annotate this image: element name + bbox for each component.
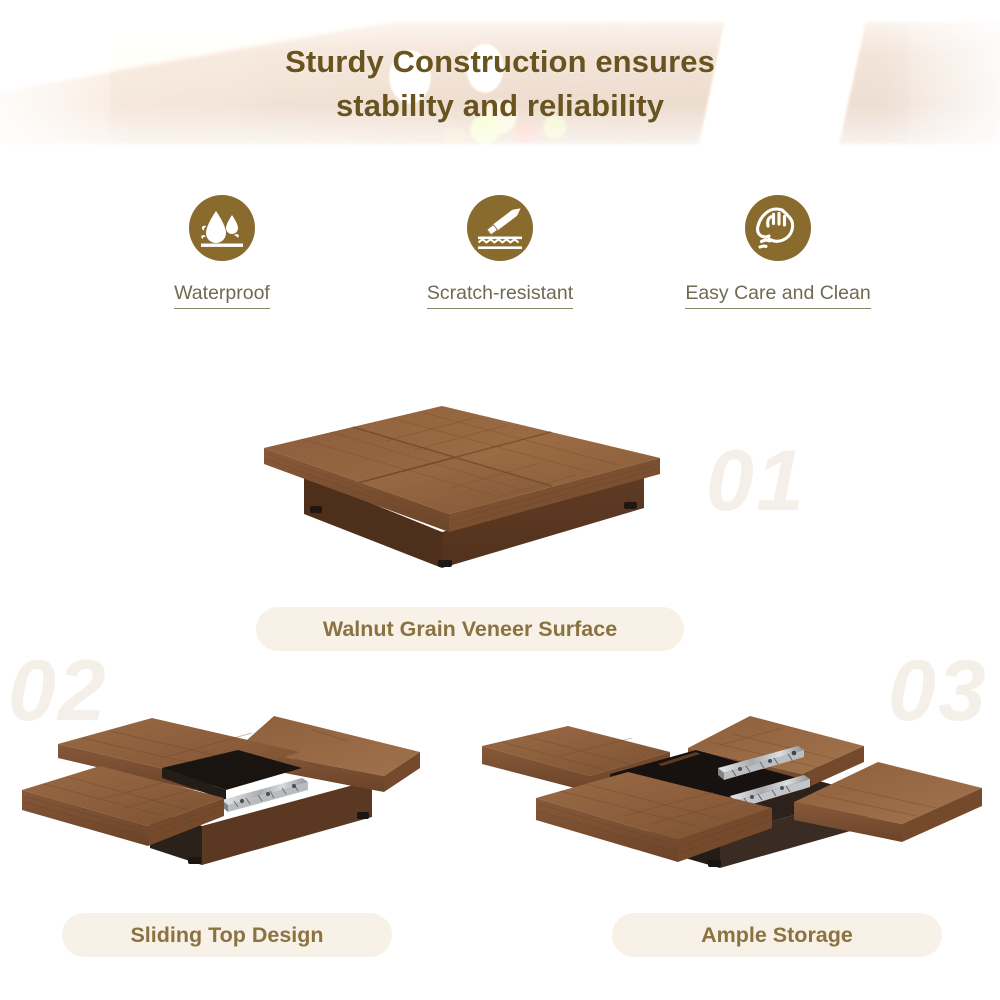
badge-label-03: Ample Storage [701,923,853,948]
section-number-01: 01 [706,432,806,531]
feature-item-waterproof: Waterproof [83,195,361,309]
badge-ample-storage: Ample Storage [612,913,942,957]
hero-title-line-2: stability and reliability [336,85,664,127]
feature-row: Waterproof Scratch-resistant [0,195,1000,335]
badge-walnut-grain-veneer-surface: Walnut Grain Veneer Surface [256,607,684,651]
hero-title-block: Sturdy Construction ensures stability an… [0,0,1000,168]
feature-label-waterproof: Waterproof [174,282,270,309]
easy-care-hand-wipe-icon [745,195,811,261]
hero-title-line-1: Sturdy Construction ensures [285,41,715,83]
scratch-resistant-blade-icon [467,195,533,261]
product-image-ample-storage [482,690,982,875]
product-image-closed-table [246,402,676,587]
waterproof-droplet-icon [189,195,255,261]
hero-header: Sturdy Construction ensures stability an… [0,0,1000,168]
badge-sliding-top-design: Sliding Top Design [62,913,392,957]
feature-item-scratch-resistant: Scratch-resistant [361,195,639,309]
badge-label-02: Sliding Top Design [130,923,323,948]
feature-label-easy-care: Easy Care and Clean [685,282,870,309]
feature-item-easy-care: Easy Care and Clean [639,195,917,309]
badge-label-01: Walnut Grain Veneer Surface [323,617,617,642]
feature-label-scratch-resistant: Scratch-resistant [427,282,573,309]
product-image-sliding-top [12,700,432,875]
